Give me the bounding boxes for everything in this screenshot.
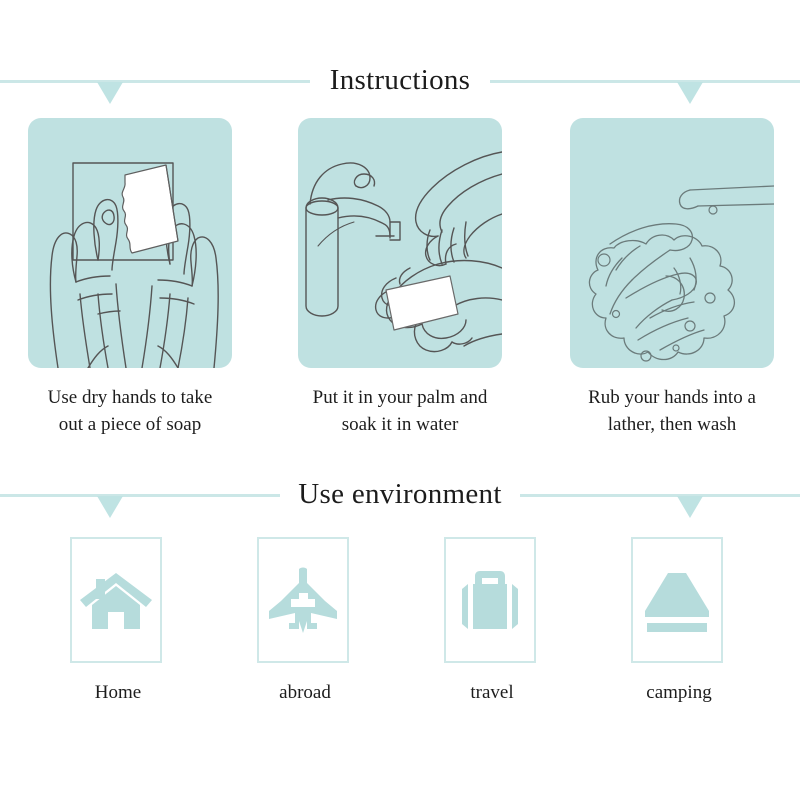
instruction-caption-3: Rub your hands into a lather, then wash: [570, 384, 774, 438]
caption-line-2: out a piece of soap: [28, 411, 232, 438]
environment-icon-box: [631, 537, 723, 663]
instruction-caption-1: Use dry hands to take out a piece of soa…: [28, 384, 232, 438]
environment-item-label: camping: [631, 682, 727, 704]
environment-item-home: Home: [70, 537, 166, 704]
caption-line-2: lather, then wash: [570, 411, 774, 438]
instruction-caption-2: Put it in your palm and soak it in water: [298, 384, 502, 438]
environment-items: Home abroad: [0, 537, 800, 727]
instruction-cards: Use dry hands to take out a piece of soa…: [0, 118, 800, 438]
environment-item-label: abroad: [257, 682, 353, 704]
caption-line-2: soak it in water: [298, 411, 502, 438]
environment-section-header: Use environment: [0, 472, 800, 518]
suitcase-icon: [454, 567, 526, 633]
house-icon: [80, 567, 152, 633]
environment-title-text: Use environment: [280, 478, 519, 510]
instruction-step-1: Use dry hands to take out a piece of soa…: [28, 118, 232, 438]
instructions-title: Instructions: [0, 58, 800, 102]
environment-item-travel: travel: [444, 537, 540, 704]
caption-line-1: Use dry hands to take: [28, 384, 232, 411]
hands-pulling-soap-sheet-icon: [28, 118, 232, 368]
environment-item-label: travel: [444, 682, 540, 704]
environment-icon-box: [257, 537, 349, 663]
tent-icon: [641, 567, 713, 633]
instruction-step-2: Put it in your palm and soak it in water: [298, 118, 502, 438]
environment-icon-box: [444, 537, 536, 663]
airplane-icon: [267, 567, 339, 633]
environment-item-abroad: abroad: [257, 537, 353, 704]
environment-icon-box: [70, 537, 162, 663]
instructions-section-header: Instructions: [0, 58, 800, 104]
instruction-step-3: Rub your hands into a lather, then wash: [570, 118, 774, 438]
environment-item-camping: camping: [631, 537, 727, 704]
instructions-page: Instructions: [0, 0, 800, 800]
faucet-and-hand-with-sheet-icon: [298, 118, 502, 368]
hands-lathering-under-tap-icon: [570, 118, 774, 368]
environment-item-label: Home: [70, 682, 166, 704]
caption-line-1: Rub your hands into a: [570, 384, 774, 411]
caption-line-1: Put it in your palm and: [298, 384, 502, 411]
environment-title: Use environment: [0, 472, 800, 516]
instructions-title-text: Instructions: [312, 64, 489, 96]
